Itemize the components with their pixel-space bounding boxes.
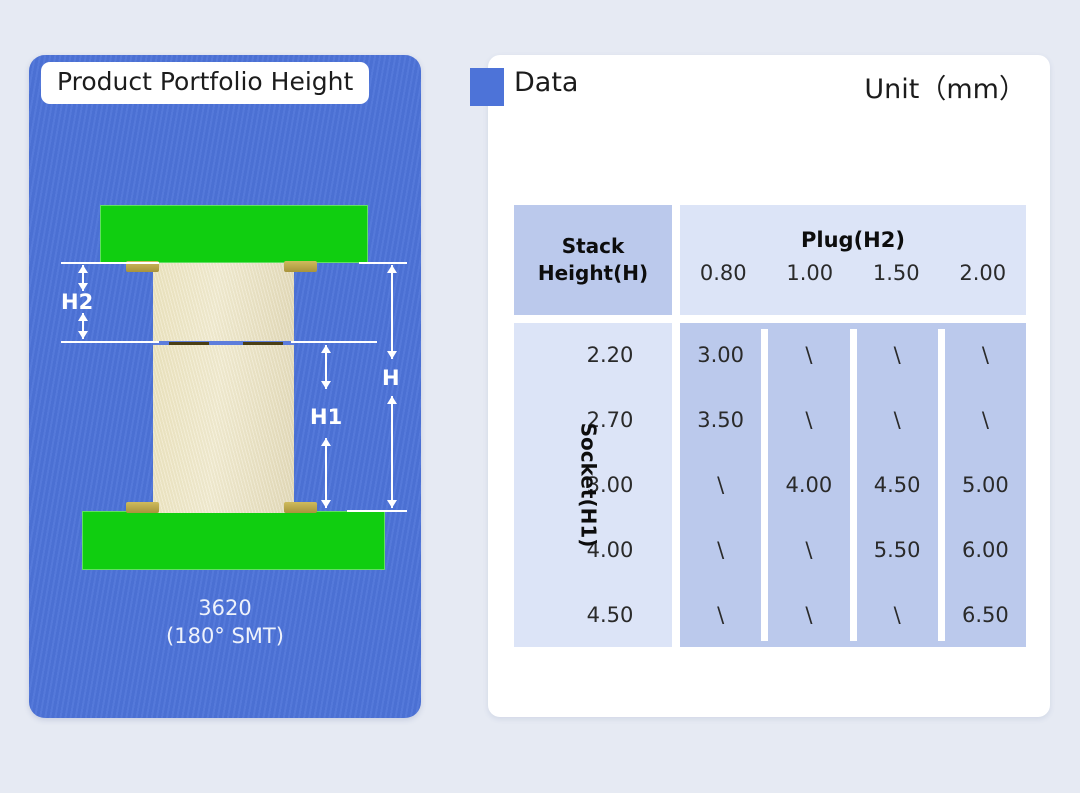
solder-pad-bottom-right — [284, 502, 317, 513]
extension-line-h2-top — [61, 262, 159, 264]
pcb-board-bottom — [82, 511, 385, 570]
stack-height-table: Stack Height(H) Plug(H2) 0.80 1.00 1.50 … — [514, 205, 1026, 647]
cell-r0c3: \ — [945, 323, 1026, 388]
diagram-panel: Product Portfolio Height H2 H1 H 3620 (1… — [29, 55, 421, 718]
solder-pad-bottom-left — [126, 502, 159, 513]
unit-label: Unit（mm） — [864, 67, 1026, 106]
data-section-label: Data — [514, 67, 578, 98]
data-card: Data Unit（mm） Stack Height(H) Plug(H2) 0… — [488, 55, 1050, 717]
caption-mount-type: (180° SMT) — [29, 622, 421, 650]
dim-arrow-h2-upper — [82, 265, 84, 291]
plug-value-3: 2.00 — [940, 261, 1027, 285]
extension-line-h1-top — [291, 341, 377, 343]
cell-r1c3: \ — [945, 388, 1026, 453]
connector-socket-body — [153, 345, 294, 513]
column-separator-2 — [938, 329, 945, 641]
socket-value-1: 2.70 — [548, 388, 672, 453]
data-swatch-icon — [470, 68, 504, 106]
diagram-caption: 3620 (180° SMT) — [29, 594, 421, 651]
cell-r2c2: 4.50 — [857, 453, 938, 518]
cell-r2c1: 4.00 — [768, 453, 849, 518]
socket-value-2: 3.00 — [548, 453, 672, 518]
body-gap — [672, 323, 680, 647]
cell-r3c1: \ — [768, 517, 849, 582]
cell-r1c0: 3.50 — [680, 388, 761, 453]
cell-r4c0: \ — [680, 582, 761, 647]
cell-r1c1: \ — [768, 388, 849, 453]
extension-line-h-bottom — [347, 510, 407, 512]
table-header-row: Stack Height(H) Plug(H2) 0.80 1.00 1.50 … — [514, 205, 1026, 315]
header-plug-values: 0.80 1.00 1.50 2.00 — [680, 261, 1026, 285]
data-column-1: \ \ 4.00 \ \ — [768, 323, 849, 647]
cell-r4c1: \ — [768, 582, 849, 647]
cell-r3c3: 6.00 — [945, 517, 1026, 582]
cell-r4c3: 6.50 — [945, 582, 1026, 647]
socket-value-3: 4.00 — [548, 517, 672, 582]
socket-value-4: 4.50 — [548, 582, 672, 647]
column-separator-0 — [761, 329, 768, 641]
dim-arrow-h2-lower — [82, 313, 84, 339]
spacer-cell-mid — [672, 315, 680, 323]
row-group-title: Socket(H1) — [576, 423, 600, 548]
table-spacer-row — [514, 315, 1026, 323]
header-stack-line2: Height(H) — [538, 261, 648, 285]
dim-label-h: H — [382, 368, 400, 389]
caption-model: 3620 — [29, 594, 421, 622]
data-column-2: \ \ 4.50 5.50 \ — [857, 323, 938, 647]
extension-line-h2-bottom — [61, 341, 159, 343]
header-plug-group: Plug(H2) 0.80 1.00 1.50 2.00 — [680, 205, 1026, 315]
data-column-3: \ \ 5.00 6.00 6.50 — [945, 323, 1026, 647]
cell-r2c0: \ — [680, 453, 761, 518]
cell-r1c2: \ — [857, 388, 938, 453]
plug-value-1: 1.00 — [767, 261, 854, 285]
header-stack-height: Stack Height(H) — [514, 205, 672, 315]
table-body-row: Socket(H1) 2.20 2.70 3.00 4.00 4.50 3.00… — [514, 323, 1026, 647]
column-separator-1 — [850, 329, 857, 641]
data-column-0: 3.00 3.50 \ \ \ — [680, 323, 761, 647]
header-stack-line1: Stack — [562, 234, 625, 258]
cell-r3c0: \ — [680, 517, 761, 582]
cell-r4c2: \ — [857, 582, 938, 647]
header-gap — [672, 205, 680, 315]
socket-column: Socket(H1) 2.20 2.70 3.00 4.00 4.50 — [514, 323, 672, 647]
plug-value-0: 0.80 — [680, 261, 767, 285]
dim-label-h2: H2 — [61, 292, 93, 313]
connector-plug-body — [153, 263, 294, 341]
data-grid: 3.00 3.50 \ \ \ \ \ 4.00 \ \ — [680, 323, 1026, 647]
dim-label-h1: H1 — [310, 407, 342, 428]
dim-arrow-h-upper — [391, 265, 393, 359]
cell-r3c2: 5.50 — [857, 517, 938, 582]
cell-r2c3: 5.00 — [945, 453, 1026, 518]
spacer-cell-right — [680, 315, 1026, 323]
cell-r0c1: \ — [768, 323, 849, 388]
dim-arrow-h1-upper — [325, 345, 327, 389]
spacer-cell-left — [514, 315, 672, 323]
dim-arrow-h1-lower — [325, 438, 327, 508]
plug-value-2: 1.50 — [853, 261, 940, 285]
extension-line-h-top — [359, 262, 407, 264]
card-header: Data Unit（mm） — [488, 55, 1050, 119]
seam-contact-left — [169, 342, 209, 345]
cell-r0c2: \ — [857, 323, 938, 388]
solder-pad-top-right — [284, 261, 317, 272]
seam-contact-right — [243, 342, 283, 345]
page-title: Product Portfolio Height — [41, 62, 369, 104]
socket-value-0: 2.20 — [548, 323, 672, 388]
cell-r0c0: 3.00 — [680, 323, 761, 388]
dim-arrow-h-lower — [391, 396, 393, 508]
header-plug-title: Plug(H2) — [680, 205, 1026, 252]
pcb-board-top — [100, 205, 368, 263]
data-grid-inner: 3.00 3.50 \ \ \ \ \ 4.00 \ \ — [680, 323, 1026, 647]
